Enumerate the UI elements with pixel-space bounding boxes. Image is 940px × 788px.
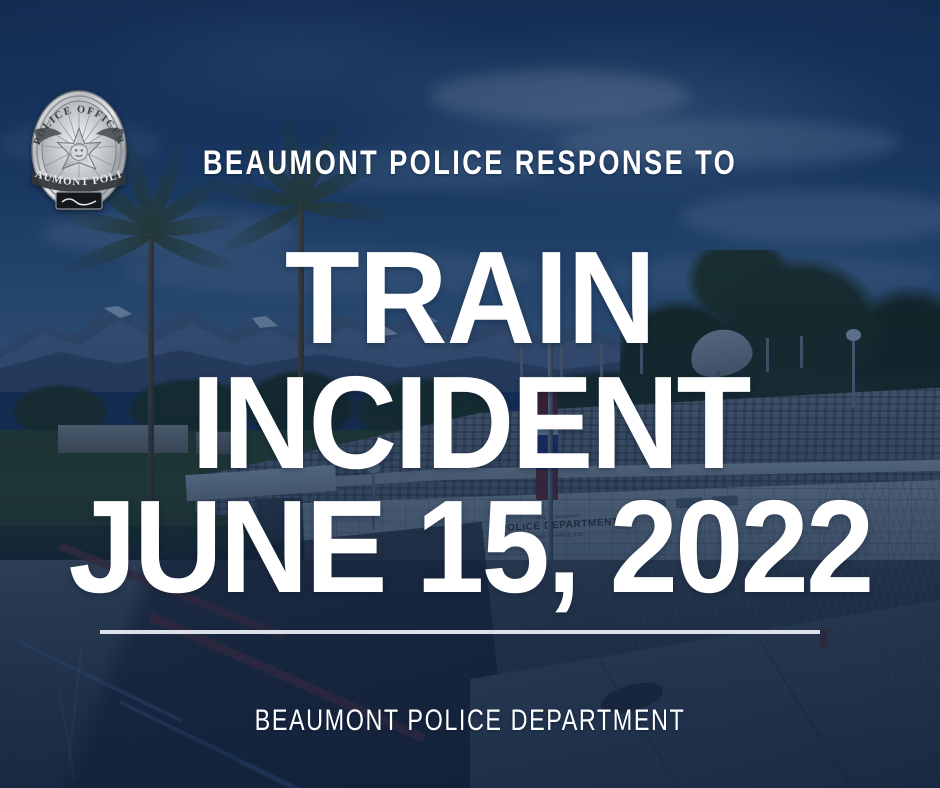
page-title: TRAIN INCIDENT JUNE 15, 2022	[0, 236, 940, 610]
headline-line-1: TRAIN	[33, 236, 907, 361]
poster-content: POLICE OFFICER BEAUMONT POLICE	[0, 0, 940, 788]
divider	[100, 630, 820, 634]
poster: City of Beaumont POLICE DEPARTMENT 660 O…	[0, 0, 940, 788]
headline-line-2: INCIDENT	[33, 361, 907, 486]
headline-line-3: JUNE 15, 2022	[33, 485, 907, 610]
kicker-text: BEAUMONT POLICE RESPONSE TO	[94, 144, 846, 183]
footer-text: BEAUMONT POLICE DEPARTMENT	[103, 704, 836, 738]
